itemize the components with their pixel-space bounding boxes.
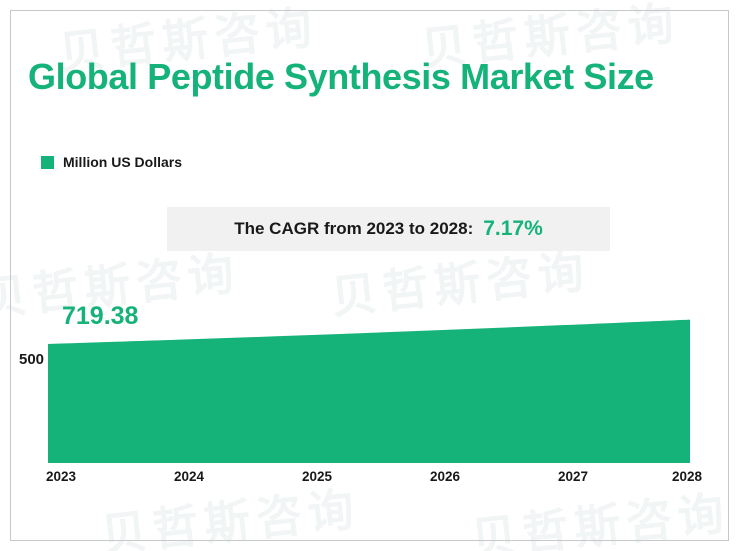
legend-item-label: Million US Dollars: [63, 154, 182, 170]
area-series-path: [48, 320, 690, 462]
x-axis-tick-label: 2024: [174, 469, 204, 484]
chart-page: 贝哲斯咨询 贝哲斯咨询 贝哲斯咨询 贝哲斯咨询 贝哲斯咨询 贝哲斯咨询 Glob…: [0, 0, 741, 551]
y-axis-tick-label: 500: [19, 351, 44, 368]
watermark-text: 贝哲斯咨询: [97, 473, 362, 551]
cagr-annotation-box: The CAGR from 2023 to 2028: 7.17%: [167, 207, 610, 251]
x-axis-tick-label: 2026: [430, 469, 460, 484]
cagr-value: 7.17%: [483, 217, 543, 241]
chart-legend: Million US Dollars: [41, 154, 182, 170]
watermark-text: 贝哲斯咨询: [467, 477, 732, 551]
x-axis-tick-label: 2028: [672, 469, 702, 484]
cagr-label: The CAGR from 2023 to 2028:: [234, 219, 473, 239]
x-axis-tick-label: 2025: [302, 469, 332, 484]
x-axis-tick-label: 2027: [558, 469, 588, 484]
page-title: Global Peptide Synthesis Market Size: [28, 54, 718, 100]
data-point-label-2023: 719.38: [62, 302, 138, 331]
legend-swatch-icon: [41, 156, 54, 169]
x-axis-tick-label: 2023: [46, 469, 76, 484]
